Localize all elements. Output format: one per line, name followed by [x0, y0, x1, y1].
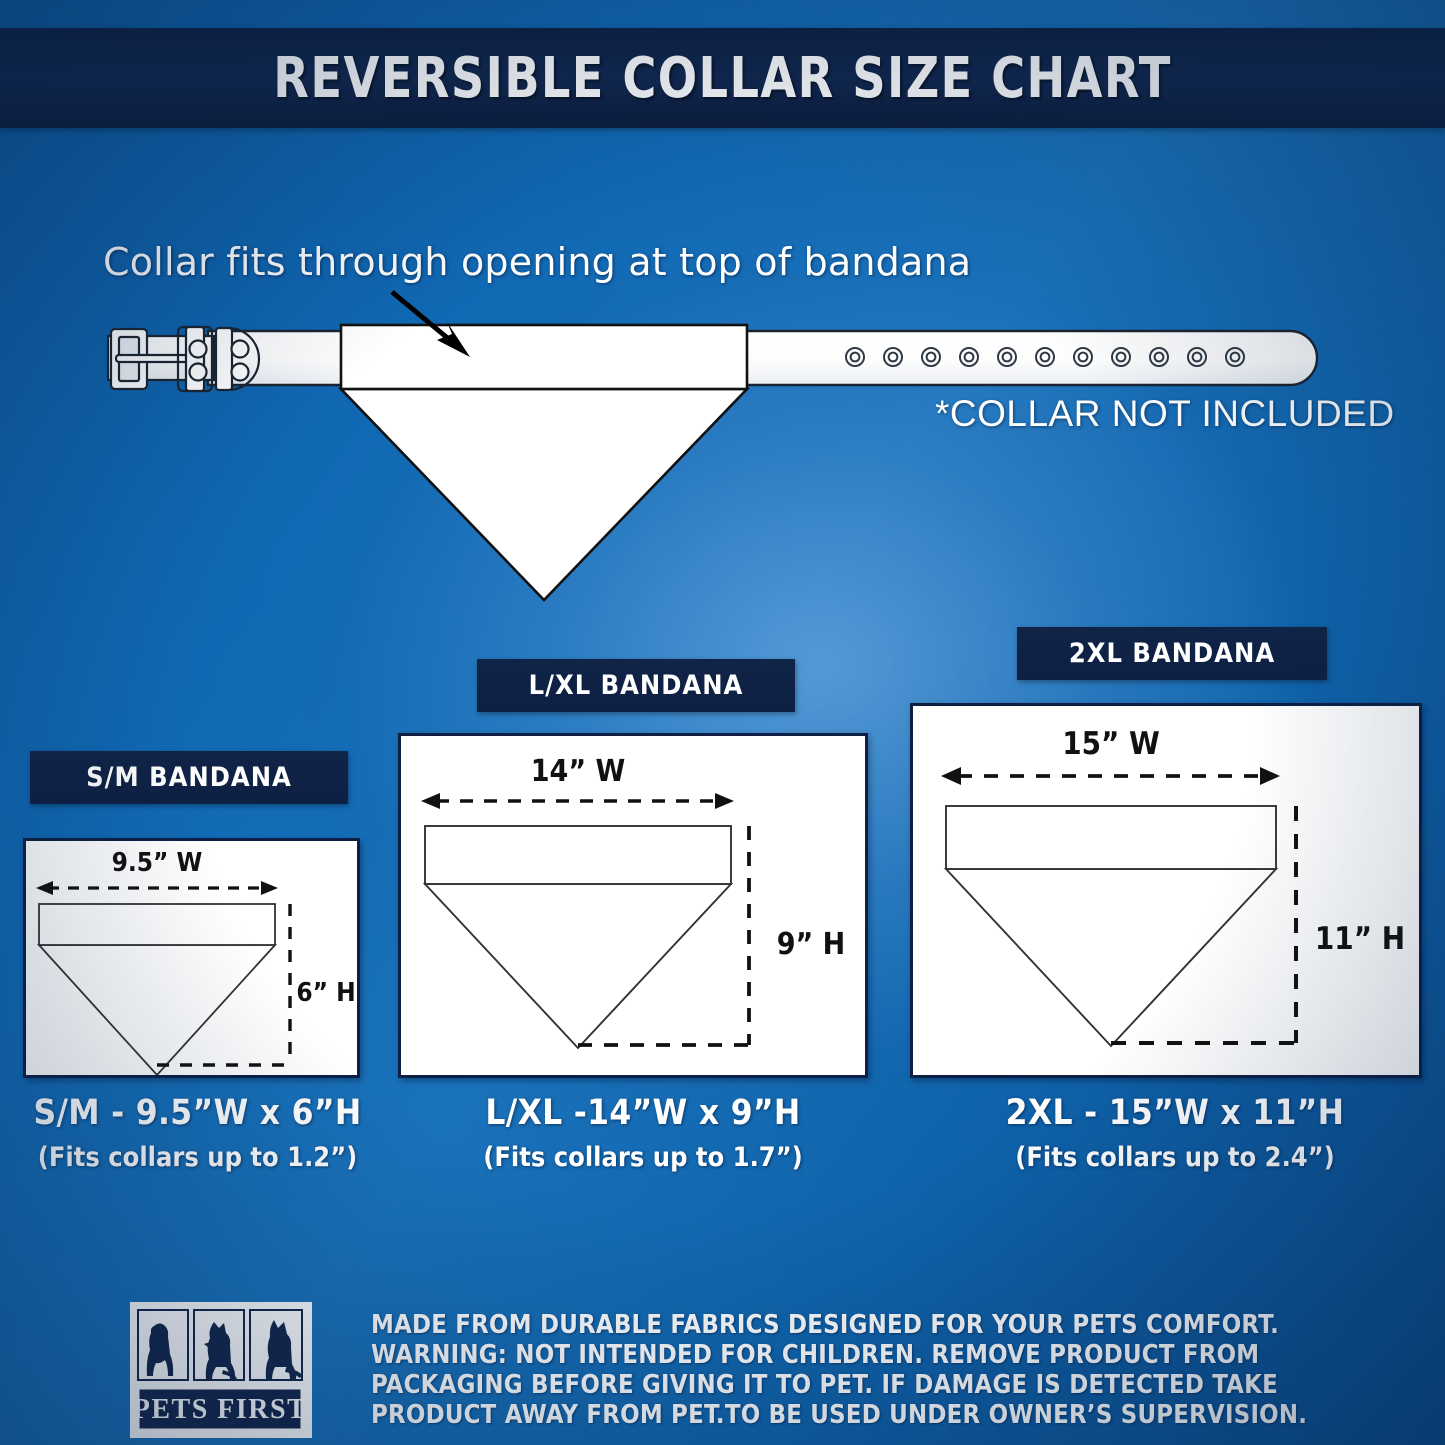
caption-2xl: 2XL - 15”W x 11”H (Fits collars up to 2.… — [970, 1093, 1380, 1173]
height-label-sm: 6” H — [296, 978, 355, 1008]
caption-sub-lxl: (Fits collars up to 1.7”) — [443, 1142, 843, 1173]
caption-sub-2xl: (Fits collars up to 2.4”) — [970, 1142, 1380, 1173]
diagram-lxl: 14” W 9” H — [401, 736, 865, 1075]
three-dog-silhouettes-icon — [138, 1310, 302, 1380]
height-label-2xl: 11” H — [1315, 921, 1405, 957]
collar-bandana-illustration — [0, 0, 1445, 640]
logo-wordmark: PETS FIRST — [133, 1394, 308, 1425]
size-label-lxl: L/XL BANDANA — [477, 659, 795, 712]
footer-line-2: WARNING: NOT INTENDED FOR CHILDREN. REMO… — [371, 1340, 1361, 1370]
caption-main-lxl: L/XL -14”W x 9”H — [443, 1093, 843, 1133]
size-label-2xl: 2XL BANDANA — [1017, 627, 1327, 680]
diagram-sm: 9.5” W 6” H — [26, 841, 357, 1075]
width-label-2xl: 15” W — [1062, 726, 1160, 762]
caption-main-2xl: 2XL - 15”W x 11”H — [970, 1093, 1380, 1133]
size-chart-page: REVERSIBLE COLLAR SIZE CHART Collar fits… — [0, 0, 1445, 1445]
size-box-2xl: 15” W 11” H — [910, 703, 1422, 1078]
footer-line-4: PRODUCT AWAY FROM PET.TO BE USED UNDER O… — [371, 1400, 1361, 1430]
bandana-shape — [341, 325, 747, 600]
caption-sub-sm: (Fits collars up to 1.2”) — [0, 1142, 395, 1173]
footer-line-3: PACKAGING BEFORE GIVING IT TO PET. IF DA… — [371, 1370, 1361, 1400]
footer-disclaimer: MADE FROM DURABLE FABRICS DESIGNED FOR Y… — [371, 1310, 1361, 1430]
size-label-sm: S/M BANDANA — [30, 751, 348, 804]
caption-main-sm: S/M - 9.5”W x 6”H — [0, 1093, 395, 1133]
collar-not-included-note: *COLLAR NOT INCLUDED — [935, 393, 1395, 435]
pets-first-logo: PETS FIRST — [128, 1300, 314, 1440]
size-box-sm: 9.5” W 6” H — [23, 838, 360, 1078]
diagram-2xl: 15” W 11” H — [913, 706, 1419, 1075]
height-label-lxl: 9” H — [777, 927, 846, 962]
caption-sm: S/M - 9.5”W x 6”H (Fits collars up to 1.… — [0, 1093, 395, 1173]
size-box-lxl: 14” W 9” H — [398, 733, 868, 1078]
width-label-sm: 9.5” W — [112, 848, 203, 878]
caption-lxl: L/XL -14”W x 9”H (Fits collars up to 1.7… — [443, 1093, 843, 1173]
footer-line-1: MADE FROM DURABLE FABRICS DESIGNED FOR Y… — [371, 1310, 1361, 1340]
width-label-lxl: 14” W — [531, 754, 625, 789]
